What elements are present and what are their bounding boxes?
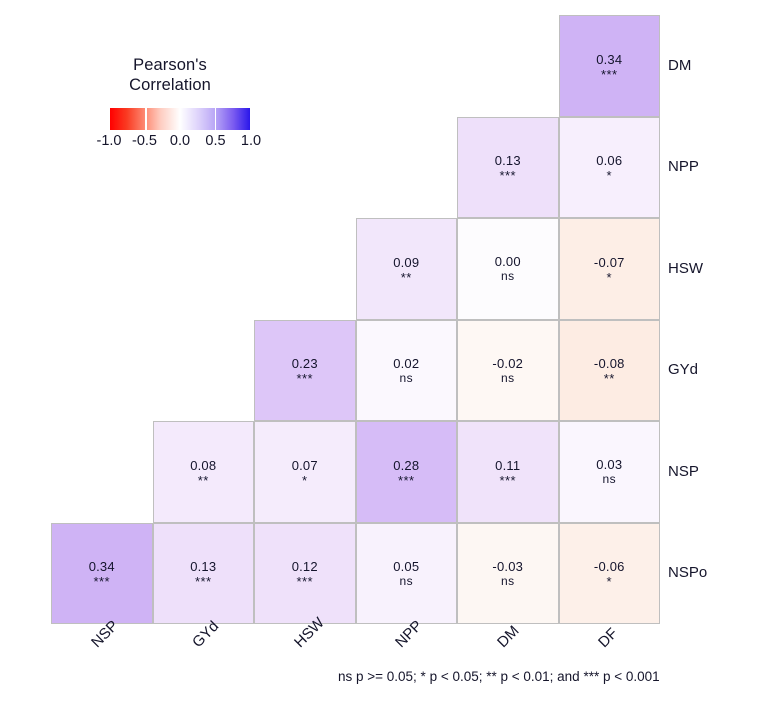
heatmap-cell: 0.08** <box>153 421 255 523</box>
cell-value: 0.09 <box>393 255 419 270</box>
cell-value: 0.13 <box>495 153 521 168</box>
heatmap-cell: 0.13*** <box>457 117 559 219</box>
cell-value: 0.11 <box>495 458 520 473</box>
cell-value: -0.08 <box>594 356 625 371</box>
cell-value: -0.06 <box>594 559 625 574</box>
correlation-matrix-figure: Pearson's Correlation -1.0 -0.5 0.0 0.5 … <box>0 0 757 704</box>
heatmap-cell: -0.07* <box>559 218 661 320</box>
heatmap-grid: 0.34***0.13***0.06*0.09**0.00ns-0.07*0.2… <box>51 15 660 625</box>
heatmap-cell: 0.02ns <box>356 320 458 422</box>
cell-value: 0.28 <box>393 458 419 473</box>
heatmap-cell: 0.34*** <box>51 523 153 625</box>
cell-significance: ns <box>400 575 413 588</box>
cell-value: 0.08 <box>190 458 216 473</box>
cell-value: 0.34 <box>89 559 115 574</box>
y-axis-label-npp: NPP <box>668 158 699 175</box>
significance-footnote: ns p >= 0.05; * p < 0.05; ** p < 0.01; a… <box>338 669 660 684</box>
cell-significance: ns <box>603 473 616 486</box>
heatmap-cell: -0.03ns <box>457 523 559 625</box>
heatmap-cell: 0.11*** <box>457 421 559 523</box>
cell-significance: ns <box>501 575 514 588</box>
cell-significance: * <box>302 476 307 486</box>
cell-value: 0.06 <box>596 153 622 168</box>
cell-value: 0.02 <box>393 356 419 371</box>
heatmap-cell: -0.06* <box>559 523 661 625</box>
cell-significance: *** <box>297 374 313 384</box>
cell-significance: ns <box>400 372 413 385</box>
cell-significance: ** <box>401 273 412 283</box>
heatmap-cell: 0.13*** <box>153 523 255 625</box>
cell-value: 0.12 <box>292 559 318 574</box>
x-axis-label-df: DF <box>595 625 621 651</box>
cell-significance: *** <box>297 577 313 587</box>
y-axis-label-dm: DM <box>668 57 691 74</box>
y-axis-label-hsw: HSW <box>668 260 703 277</box>
cell-significance: ** <box>604 374 615 384</box>
heatmap-cell: 0.34*** <box>559 15 661 117</box>
cell-significance: *** <box>195 577 211 587</box>
heatmap-cell: 0.00ns <box>457 218 559 320</box>
x-axis-label-dm: DM <box>494 623 523 652</box>
cell-significance: * <box>607 577 612 587</box>
heatmap-cell: 0.23*** <box>254 320 356 422</box>
heatmap-cell: -0.02ns <box>457 320 559 422</box>
cell-significance: *** <box>398 476 414 486</box>
heatmap-cell: -0.08** <box>559 320 661 422</box>
cell-value: -0.02 <box>492 356 523 371</box>
heatmap-cell: 0.05ns <box>356 523 458 625</box>
y-axis-label-nsp: NSP <box>668 463 699 480</box>
heatmap-cell: 0.09** <box>356 218 458 320</box>
cell-significance: ** <box>198 476 209 486</box>
cell-significance: *** <box>601 70 617 80</box>
cell-value: -0.03 <box>492 559 523 574</box>
cell-value: 0.00 <box>495 254 521 269</box>
cell-significance: * <box>607 171 612 181</box>
y-axis-label-nspo: NSPo <box>668 564 707 581</box>
cell-significance: *** <box>500 476 516 486</box>
cell-significance: ns <box>501 270 514 283</box>
heatmap-cell: 0.12*** <box>254 523 356 625</box>
cell-value: 0.34 <box>596 52 622 67</box>
cell-significance: ns <box>501 372 514 385</box>
cell-significance: *** <box>94 577 110 587</box>
cell-value: -0.07 <box>594 255 625 270</box>
heatmap-cell: 0.06* <box>559 117 661 219</box>
cell-significance: *** <box>500 171 516 181</box>
y-axis-label-gyd: GYd <box>668 361 698 378</box>
cell-value: 0.07 <box>292 458 318 473</box>
heatmap-cell: 0.07* <box>254 421 356 523</box>
heatmap-cell: 0.28*** <box>356 421 458 523</box>
cell-significance: * <box>607 273 612 283</box>
cell-value: 0.03 <box>596 457 622 472</box>
cell-value: 0.05 <box>393 559 419 574</box>
heatmap-cell: 0.03ns <box>559 421 661 523</box>
cell-value: 0.13 <box>190 559 216 574</box>
cell-value: 0.23 <box>292 356 318 371</box>
